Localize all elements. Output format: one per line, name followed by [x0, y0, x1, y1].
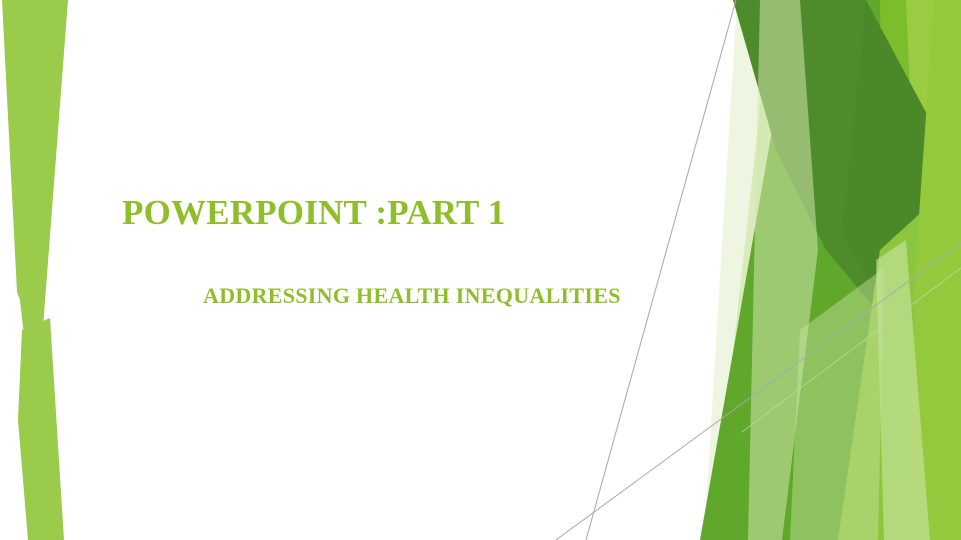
slide-subtitle: ADDRESSING HEALTH INEQUALITIES: [203, 281, 723, 311]
slide-content-layer: POWERPOINT :PART 1 ADDRESSING HEALTH INE…: [0, 0, 961, 540]
slide-title: POWERPOINT :PART 1: [122, 191, 682, 235]
presentation-slide: POWERPOINT :PART 1 ADDRESSING HEALTH INE…: [0, 0, 961, 540]
